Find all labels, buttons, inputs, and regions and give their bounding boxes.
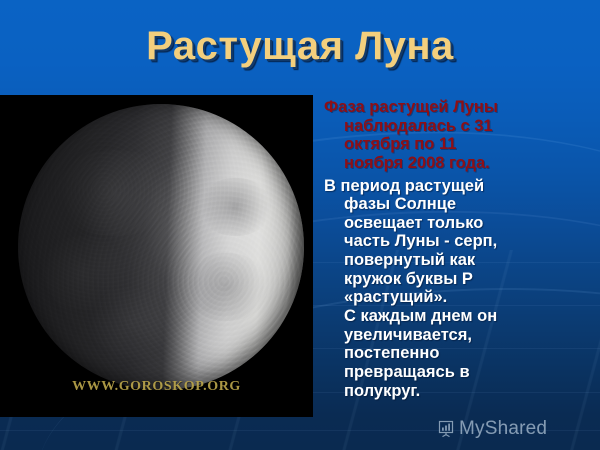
myshared-watermark: MyShared (437, 418, 547, 440)
paragraph-waxing-description: В период растущей фазы Солнце освещает т… (318, 177, 596, 401)
paragraph-1-line: ноября 2008 года. (328, 154, 596, 173)
paragraph-2-line: С каждым днем он (324, 307, 596, 326)
moon-surface-texture (18, 104, 304, 390)
paragraph-1-line: октября по 11 (328, 135, 596, 154)
paragraph-2-line: полукруг. (324, 382, 596, 401)
image-credit-watermark: WWW.GOROSKOP.ORG (0, 379, 313, 395)
moon-mare-5 (167, 310, 253, 373)
paragraph-2-line: освещает только (324, 214, 596, 233)
moon-mare-1 (52, 150, 178, 236)
paragraph-2-line: увеличивается, (324, 326, 596, 345)
waxing-moon-photo: WWW.GOROSKOP.ORG (0, 95, 313, 417)
paragraph-1-line: Фаза растущей Луны (328, 98, 596, 117)
moon-mare-3 (198, 178, 272, 235)
paragraph-2-line: постепенно (324, 344, 596, 363)
presentation-chart-icon (437, 420, 455, 438)
slide-body-text: Фаза растущей Луны наблюдалась с 31 октя… (318, 98, 596, 404)
paragraph-2-line: «растущий». (324, 288, 596, 307)
background-hline-5 (0, 430, 600, 431)
paragraph-observation-period: Фаза растущей Луны наблюдалась с 31 октя… (318, 98, 596, 173)
paragraph-2-line: повернутый как (324, 251, 596, 270)
paragraph-2-line: В период растущей (324, 177, 596, 196)
paragraph-1-line: наблюдалась с 31 (328, 117, 596, 136)
moon-mare-4 (184, 253, 270, 322)
paragraph-2-line: превращаясь в (324, 363, 596, 382)
slide-title: Растущая Луна (0, 24, 600, 69)
paragraph-2-line: фазы Солнце (324, 195, 596, 214)
moon-mare-6 (87, 287, 173, 361)
paragraph-2-line: кружок буквы Р (324, 270, 596, 289)
myshared-watermark-label: MyShared (459, 418, 547, 440)
moon-disc (18, 104, 304, 390)
moon-mare-2 (35, 236, 132, 310)
paragraph-2-line: часть Луны - серп, (324, 232, 596, 251)
presentation-slide: Растущая Луна WWW.GOROSKOP.ORG Фаза раст… (0, 0, 600, 450)
